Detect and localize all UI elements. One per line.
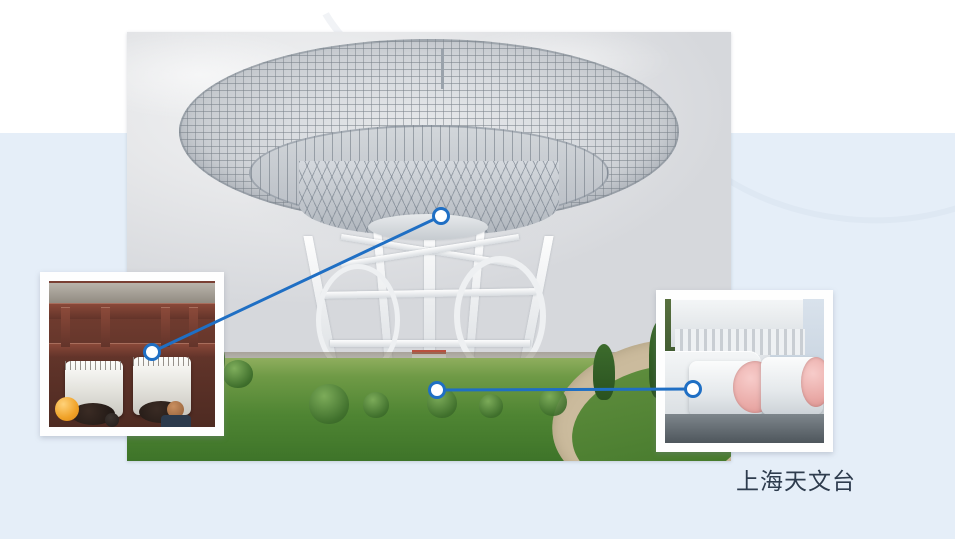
pink-end-cap-right bbox=[801, 357, 824, 407]
slide-canvas: 上海天文台 bbox=[0, 0, 955, 539]
telescope-dish-group bbox=[179, 39, 679, 239]
sapling-e bbox=[539, 388, 567, 416]
inset-right-image bbox=[665, 299, 824, 443]
worker-head-2 bbox=[105, 413, 119, 427]
sapling-b bbox=[363, 392, 389, 418]
feed-horn-mast bbox=[441, 49, 444, 89]
inset-right bbox=[656, 290, 833, 452]
conifer-mid bbox=[593, 344, 615, 400]
inset-left-image bbox=[49, 281, 215, 427]
upper-steel-rail bbox=[49, 283, 215, 305]
sapling-a bbox=[309, 384, 349, 424]
slide-caption: 上海天文台 bbox=[736, 470, 856, 493]
sapling-d bbox=[479, 394, 503, 418]
shrub-a bbox=[223, 360, 253, 388]
worker-body bbox=[161, 415, 191, 427]
inset-left bbox=[40, 272, 224, 436]
machine-base-rail bbox=[665, 414, 824, 443]
orange-hardhat bbox=[55, 397, 79, 421]
sapling-c bbox=[427, 388, 457, 418]
